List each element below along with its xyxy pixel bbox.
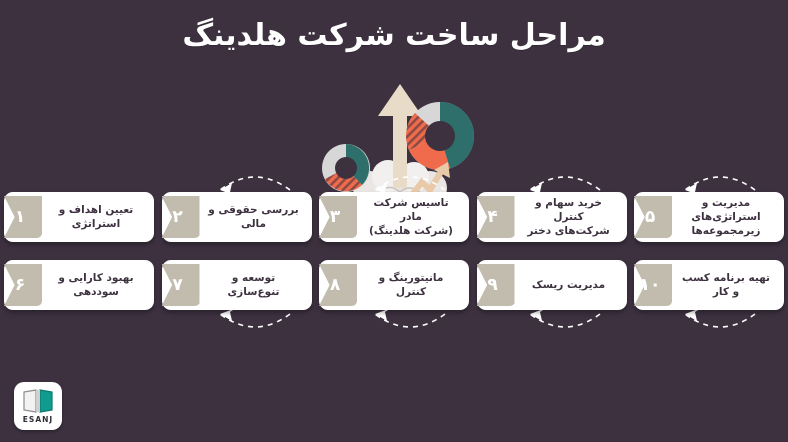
step-number-4: ۴ (477, 196, 515, 238)
step-number-2: ۲ (162, 196, 200, 238)
step-number-7: ۷ (162, 264, 200, 306)
step-label-1: تعیین اهداف و استراتژی (48, 203, 144, 231)
step-label-7: توسعه و تنوع‌سازی (206, 271, 302, 299)
step-number-10: ۱۰ (634, 264, 672, 306)
step-card-4[interactable]: ۴ خرید سهام و کنترلشرکت‌های دختر (477, 192, 627, 242)
step-card-6[interactable]: ۶ بهبود کارایی و سوددهی (4, 260, 154, 310)
step-card-9[interactable]: ۹ مدیریت ریسک (477, 260, 627, 310)
step-label-2: بررسی حقوقی و مالی (206, 203, 302, 231)
step-label-10: تهیه برنامه کسب و کار (678, 271, 774, 299)
steps-row-1: ۵ مدیریت و استراتژی‌هایزیرمجموعه‌ها ۴ خر… (0, 192, 788, 248)
steps-row-2: ۱۰ تهیه برنامه کسب و کار ۹ مدیریت ریسک ۸… (0, 260, 788, 316)
step-card-1[interactable]: ۱ تعیین اهداف و استراتژی (4, 192, 154, 242)
step-number-5: ۵ (634, 196, 672, 238)
step-card-8[interactable]: ۸ مانیتورینگ و کنترل (319, 260, 469, 310)
step-label-6: بهبود کارایی و سوددهی (48, 271, 144, 299)
illustration-svg (300, 78, 500, 204)
step-card-3[interactable]: ۳ تاسیس شرکت مادر(شرکت هلدینگ) (319, 192, 469, 242)
step-number-3: ۳ (319, 196, 357, 238)
step-label-4: خرید سهام و کنترلشرکت‌های دختر (521, 196, 617, 239)
book-logo-icon (22, 389, 54, 414)
step-card-7[interactable]: ۷ توسعه و تنوع‌سازی (162, 260, 312, 310)
brand-logo[interactable]: ESANJ (14, 382, 62, 430)
step-card-2[interactable]: ۲ بررسی حقوقی و مالی (162, 192, 312, 242)
step-number-9: ۹ (477, 264, 515, 306)
step-number-6: ۶ (4, 264, 42, 306)
step-card-5[interactable]: ۵ مدیریت و استراتژی‌هایزیرمجموعه‌ها (634, 192, 784, 242)
step-label-5: مدیریت و استراتژی‌هایزیرمجموعه‌ها (678, 196, 774, 239)
brand-name: ESANJ (23, 415, 53, 424)
step-number-8: ۸ (319, 264, 357, 306)
step-label-8: مانیتورینگ و کنترل (363, 271, 459, 299)
donut-chart-large (406, 102, 474, 170)
page-title: مراحل ساخت شرکت هلدینگ (0, 18, 788, 53)
step-card-10[interactable]: ۱۰ تهیه برنامه کسب و کار (634, 260, 784, 310)
step-label-3: تاسیس شرکت مادر(شرکت هلدینگ) (363, 196, 459, 239)
donut-chart-small (322, 144, 370, 192)
central-illustration (300, 78, 500, 204)
infographic-canvas: مراحل ساخت شرکت هلدینگ (0, 0, 788, 442)
step-label-9: مدیریت ریسک (521, 278, 617, 292)
step-number-1: ۱ (4, 196, 42, 238)
